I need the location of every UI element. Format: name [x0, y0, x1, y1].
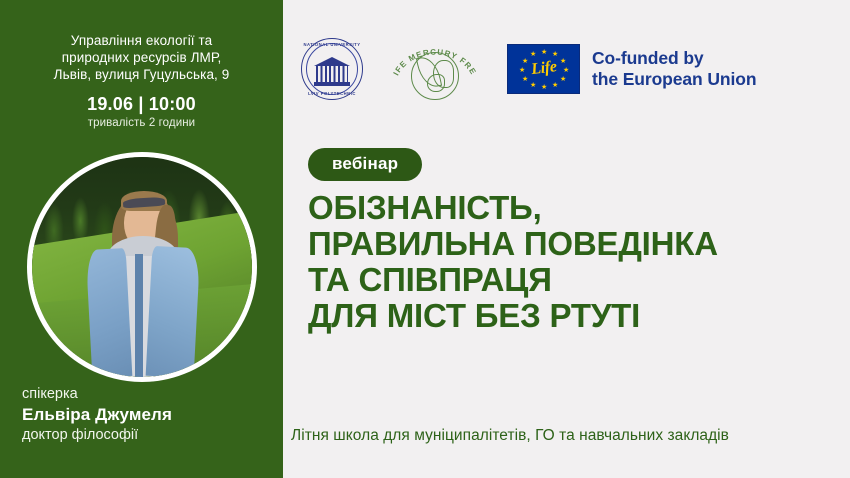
eu-star: ★ — [541, 84, 547, 91]
left-green-panel: Управління екології та природних ресурсі… — [0, 0, 283, 478]
eu-star: ★ — [560, 58, 566, 65]
seal-building — [314, 56, 350, 86]
speaker-name: Ельвіра Джумеля — [22, 404, 272, 426]
webinar-badge: вебінар — [308, 148, 422, 181]
eu-star: ★ — [552, 51, 558, 58]
eu-funding-line-2: the European Union — [592, 69, 756, 90]
organizer-line-3: Львів, вулиця Гуцульська, 9 — [0, 66, 283, 83]
webinar-poster: Управління екології та природних ресурсі… — [0, 0, 850, 478]
title-line-1: Обізнаність, — [308, 190, 848, 226]
title-line-4: для міст без ртуті — [308, 298, 848, 334]
mercury-free-leaf-icon: LIFE MERCURY FREE — [389, 38, 481, 100]
person-denim-jacket-left — [86, 248, 132, 377]
speaker-role: спікерка — [22, 385, 272, 404]
speaker-info: спікерка Ельвіра Джумеля доктор філософі… — [22, 385, 272, 445]
photo-person — [32, 157, 252, 377]
logo-row: NATIONAL UNIVERSITY LVIV POLYTECHNIC LIF… — [301, 38, 756, 100]
speaker-degree: доктор філософії — [22, 426, 272, 445]
eu-star: ★ — [530, 82, 536, 89]
organizer-line-1: Управління екології та — [0, 32, 283, 49]
eu-funding-line-1: Co-funded by — [592, 48, 756, 69]
eu-star: ★ — [552, 82, 558, 89]
seal-bottom-text: LVIV POLYTECHNIC — [301, 91, 363, 96]
eu-funding-logo: ★ ★ ★ ★ ★ ★ ★ ★ ★ ★ ★ ★ Life Co-funded b… — [507, 44, 756, 94]
eu-star: ★ — [541, 49, 547, 56]
speaker-photo — [27, 152, 257, 382]
eu-star: ★ — [522, 76, 528, 83]
event-datetime: 19.06 | 10:00 — [0, 94, 283, 115]
eu-star: ★ — [519, 67, 525, 74]
seal-building-roof — [314, 57, 350, 66]
eu-flag-icon: ★ ★ ★ ★ ★ ★ ★ ★ ★ ★ ★ ★ Life — [507, 44, 580, 94]
organizer-line-2: природних ресурсів ЛМР, — [0, 49, 283, 66]
right-content-panel: NATIONAL UNIVERSITY LVIV POLYTECHNIC LIF… — [283, 0, 850, 478]
mercury-free-small-shape — [427, 74, 445, 92]
title-line-3: та співпраця — [308, 262, 848, 298]
eu-funding-text: Co-funded by the European Union — [592, 48, 756, 90]
event-duration: тривалість 2 години — [0, 117, 283, 129]
person-denim-jacket-right — [145, 246, 200, 377]
eu-life-wordmark: Life — [530, 58, 557, 79]
eu-star: ★ — [563, 67, 569, 74]
eu-star: ★ — [530, 51, 536, 58]
seal-building-base — [314, 82, 350, 86]
footer-subtitle: Літня школа для муніципалітетів, ГО та н… — [291, 425, 846, 447]
person-jacket-placket — [135, 254, 143, 377]
speaker-photo-inner — [32, 157, 252, 377]
seal-top-text: NATIONAL UNIVERSITY — [301, 42, 363, 47]
university-seal-icon: NATIONAL UNIVERSITY LVIV POLYTECHNIC — [301, 38, 363, 100]
seal-building-columns — [316, 66, 348, 82]
page-title: Обізнаність, Правильна поведінка та спів… — [308, 190, 848, 334]
title-line-2: Правильна поведінка — [308, 226, 848, 262]
eu-star: ★ — [560, 76, 566, 83]
eu-star: ★ — [522, 58, 528, 65]
organizer-block: Управління екології та природних ресурсі… — [0, 32, 283, 83]
